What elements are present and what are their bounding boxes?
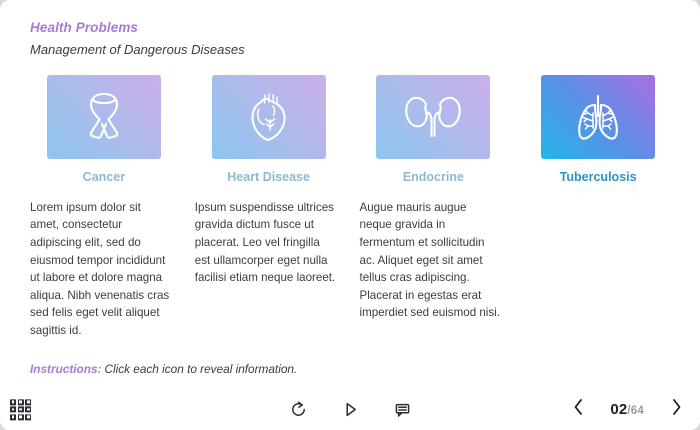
text-column-heart-disease: Ipsum suspendisse ultrices gravida dictu… (195, 199, 343, 340)
card-thumb-cancer[interactable] (47, 75, 161, 159)
card-cancer[interactable]: Cancer (30, 75, 178, 185)
card-label-cancer: Cancer (30, 170, 178, 185)
page-navigation: 02/64 (568, 398, 686, 422)
card-endocrine[interactable]: Endocrine (360, 75, 508, 185)
chevron-left-icon (572, 398, 585, 421)
card-label-tuberculosis: Tuberculosis (524, 170, 672, 185)
instructions-text: Click each icon to reveal information. (104, 362, 297, 376)
text-column-row: Lorem ipsum dolor sit amet, consectetur … (30, 199, 672, 340)
card-thumb-heart-disease[interactable] (212, 75, 326, 159)
menu-button[interactable] (10, 399, 31, 420)
player-toolbar: 02/64 (0, 389, 700, 430)
ribbon-icon (80, 88, 128, 146)
chevron-right-icon (670, 398, 683, 421)
card-thumb-endocrine[interactable] (376, 75, 490, 159)
slide-content: Health Problems Management of Dangerous … (0, 0, 700, 389)
slide-container: Health Problems Management of Dangerous … (0, 0, 700, 430)
heart-icon (244, 88, 294, 146)
kidneys-icon (402, 90, 464, 144)
page-indicator: 02/64 (610, 401, 644, 418)
playback-controls (287, 399, 413, 421)
card-label-endocrine: Endocrine (360, 170, 508, 185)
card-label-heart-disease: Heart Disease (195, 170, 343, 185)
play-icon (342, 401, 359, 418)
card-row: Cancer (30, 75, 672, 185)
notes-icon (394, 401, 411, 418)
current-page: 02 (610, 401, 627, 418)
card-thumb-tuberculosis[interactable] (541, 75, 655, 159)
prev-page-button[interactable] (568, 398, 588, 422)
total-pages: /64 (627, 405, 644, 417)
notes-button[interactable] (391, 399, 413, 421)
instructions: Instructions:Click each icon to reveal i… (30, 362, 297, 377)
grid-menu-icon[interactable] (10, 399, 31, 420)
card-tuberculosis[interactable]: Tuberculosis (524, 75, 672, 185)
instructions-label: Instructions: (30, 362, 101, 376)
card-heart-disease[interactable]: Heart Disease (195, 75, 343, 185)
replay-icon (290, 401, 307, 418)
play-button[interactable] (339, 399, 361, 421)
page-title: Health Problems (30, 20, 672, 36)
lungs-icon (569, 88, 627, 146)
text-column-endocrine: Augue mauris augue neque gravida in ferm… (360, 199, 508, 340)
next-page-button[interactable] (666, 398, 686, 422)
text-column-cancer: Lorem ipsum dolor sit amet, consectetur … (30, 199, 178, 340)
page-subtitle: Management of Dangerous Diseases (30, 42, 672, 58)
replay-button[interactable] (287, 399, 309, 421)
